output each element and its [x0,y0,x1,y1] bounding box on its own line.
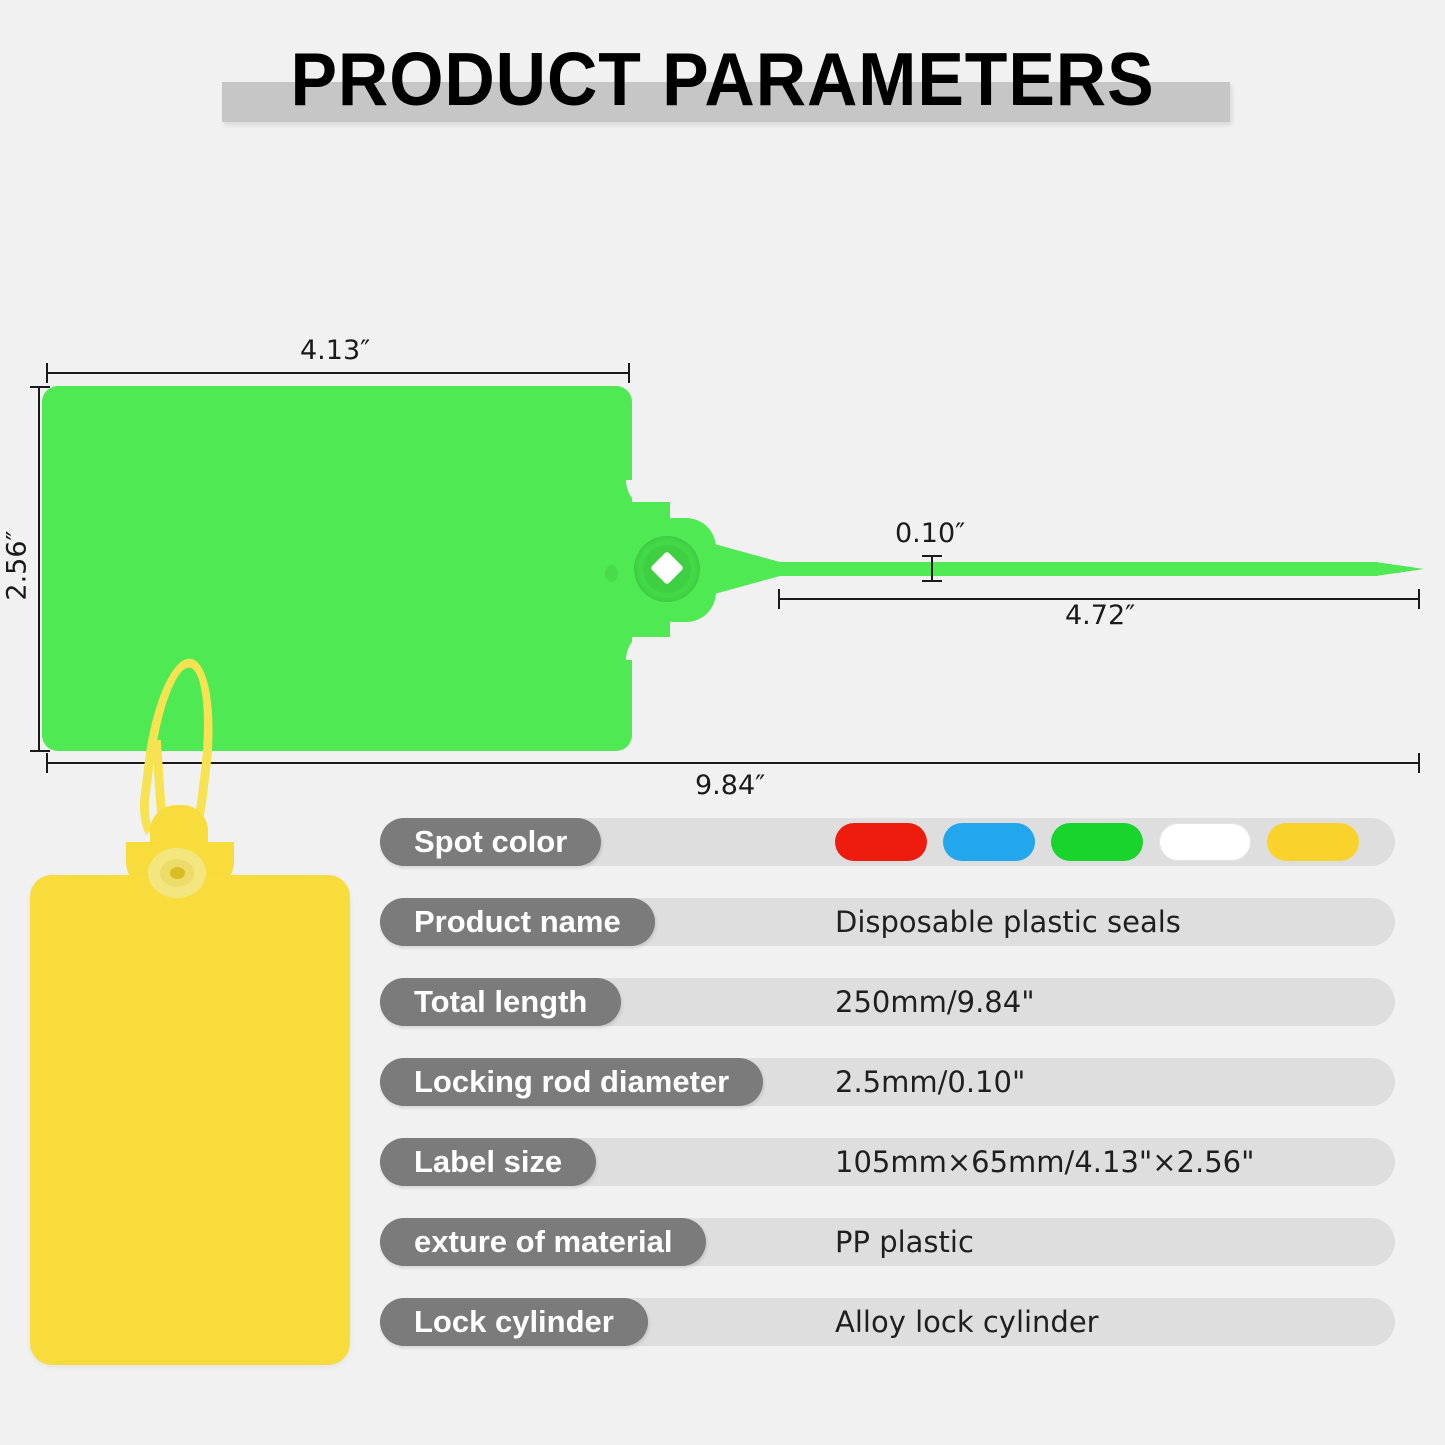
green-seal-strap-taper [700,540,780,598]
height-tick-top [30,386,50,388]
width-dimension-line [46,372,630,374]
strap-diameter-label: 0.10″ [895,518,965,549]
spec-label-product-name: Product name [380,898,655,946]
spot-color-swatches [835,823,1359,861]
yellow-seal-tag-body [30,875,350,1365]
table-row: exture of material PP plastic [380,1218,1395,1266]
swatch-blue[interactable] [943,823,1035,861]
table-row: Lock cylinder Alloy lock cylinder [380,1298,1395,1346]
strap-diameter-cap-top [922,555,942,557]
total-length-dimension-label: 9.84″ [695,770,765,801]
swatch-red[interactable] [835,823,927,861]
green-seal-dimple [605,565,618,582]
spec-value-product-name: Disposable plastic seals [835,905,1181,939]
yellow-seal-photo [0,630,370,1375]
swatch-white[interactable] [1159,823,1251,861]
page-title: PRODUCT PARAMETERS [51,36,1395,122]
green-seal-strap-tip [1376,556,1424,582]
spec-value-texture-of-material: PP plastic [835,1225,974,1259]
table-row: Product name Disposable plastic seals [380,898,1395,946]
table-row: Total length 250mm/9.84" [380,978,1395,1026]
dimension-diagram: 4.13″ 2.56″ 9.84″ 4.72″ 0.10″ [0,150,1445,660]
spec-table: Spot color Product name Disposable plast… [380,818,1395,1378]
spec-label-label-size: Label size [380,1138,596,1186]
spec-value-locking-rod-diameter: 2.5mm/0.10" [835,1065,1025,1099]
width-tick-right [628,363,630,383]
width-dimension-label: 4.13″ [300,335,370,366]
spec-value-total-length: 250mm/9.84" [835,985,1035,1019]
strap-length-tick-right [1418,589,1420,609]
swatch-green[interactable] [1051,823,1143,861]
strap-length-dimension-label: 4.72″ [1065,600,1135,631]
total-length-tick-right [1418,753,1420,773]
product-parameters-infographic: PRODUCT PARAMETERS 4.13″ 2.56″ 9.84″ [0,0,1445,1445]
strap-diameter-cap-bottom [922,580,942,582]
strap-diameter-caliper-stem [931,556,933,582]
spec-value-label-size: 105mm×65mm/4.13"×2.56" [835,1145,1254,1179]
table-row: Label size 105mm×65mm/4.13"×2.56" [380,1138,1395,1186]
spec-value-lock-cylinder: Alloy lock cylinder [835,1305,1099,1339]
yellow-lock-keyhole-icon [170,867,185,879]
spec-label-lock-cylinder: Lock cylinder [380,1298,648,1346]
swatch-yellow[interactable] [1267,823,1359,861]
spec-label-locking-rod-diameter: Locking rod diameter [380,1058,763,1106]
spec-label-total-length: Total length [380,978,621,1026]
spec-label-texture-of-material: exture of material [380,1218,706,1266]
strap-length-tick-left [778,589,780,609]
table-row: Spot color [380,818,1395,866]
table-row: Locking rod diameter 2.5mm/0.10" [380,1058,1395,1106]
width-tick-left [46,363,48,383]
green-seal-strap [778,562,1378,576]
height-dimension-label: 2.56″ [2,530,33,600]
spec-label-spot-color: Spot color [380,818,601,866]
